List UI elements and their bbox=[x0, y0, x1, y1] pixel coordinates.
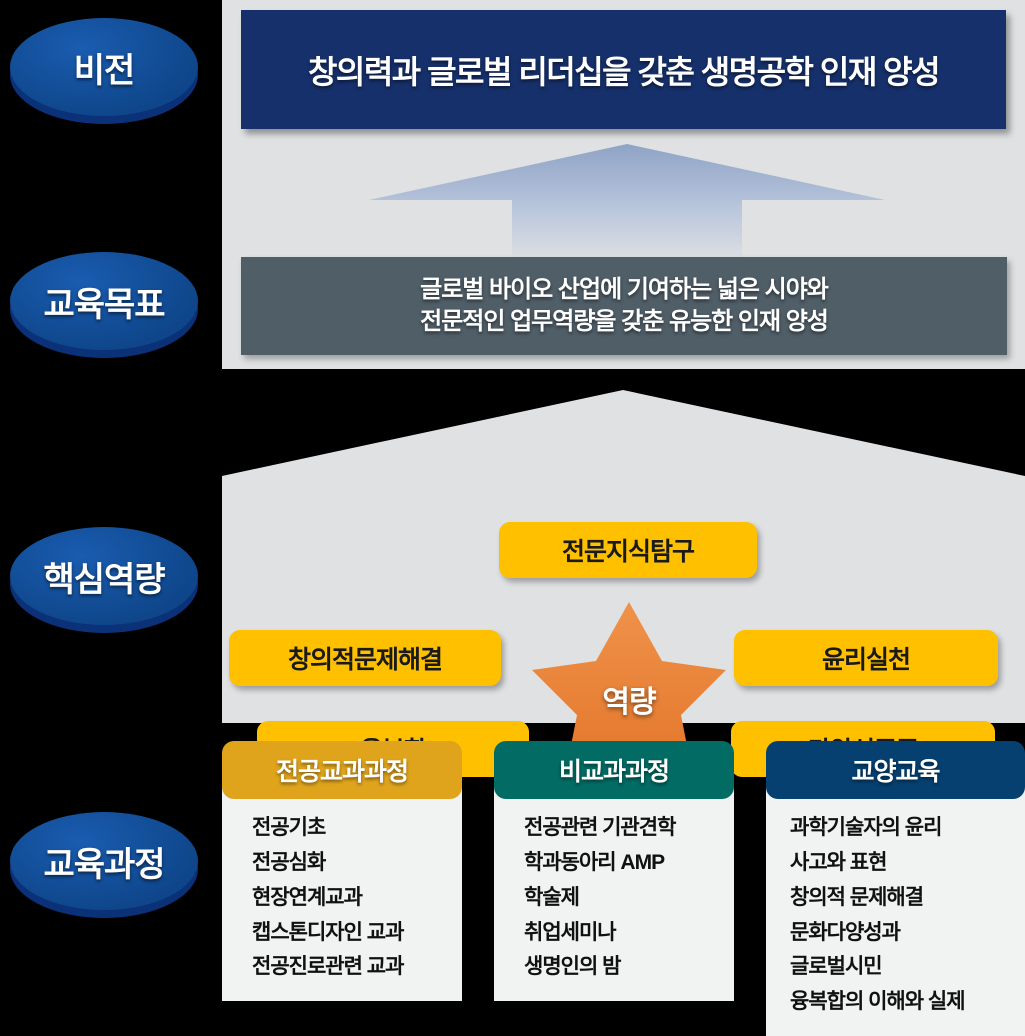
curriculum-item: 전공심화 bbox=[252, 846, 462, 881]
core-competency-panel: 역량 전문지식탐구 창의적문제해결 윤리실천 융복합 다양성존중 bbox=[222, 478, 1025, 723]
curriculum-body-liberal-arts: 과학기술자의 윤리사고와 표현창의적 문제해결문화다양성과글로벌시민융복합의 이… bbox=[766, 787, 1025, 1036]
curriculum-item: 과학기술자의 윤리 bbox=[790, 811, 1025, 846]
curriculum-header-major[interactable]: 전공교과과정 bbox=[222, 741, 462, 799]
education-goal-line1: 글로벌 바이오 산업에 기여하는 넓은 시야와 bbox=[420, 274, 828, 306]
curriculum-column-extracurricular: 비교과과정 전공관련 기관견학학과동아리 AMP학술제취업세미나생명인의 밤 bbox=[494, 741, 734, 1001]
vision-goal-panel: 창의력과 글로벌 리더십을 갖춘 생명공학 인재 양성 글로벌 바이오 산업에 … bbox=[222, 0, 1025, 369]
curriculum-item: 취업세미나 bbox=[524, 916, 734, 951]
curriculum-list-major: 전공기초전공심화현장연계교과캡스톤디자인 교과전공진로관련 교과 bbox=[222, 811, 462, 985]
curriculum-item: 사고와 표현 bbox=[790, 846, 1025, 881]
badge-curriculum: 교육과정 bbox=[6, 808, 202, 918]
curriculum-item: 생명인의 밤 bbox=[524, 950, 734, 985]
curriculum-body-major: 전공기초전공심화현장연계교과캡스톤디자인 교과전공진로관련 교과 bbox=[222, 787, 462, 1001]
badge-goal-label: 교육목표 bbox=[10, 252, 198, 350]
badge-core-competency: 핵심역량 bbox=[6, 523, 202, 633]
education-goal-box: 글로벌 바이오 산업에 기여하는 넓은 시야와 전문적인 업무역량을 갖춘 유능… bbox=[241, 257, 1007, 355]
curriculum-item: 학술제 bbox=[524, 881, 734, 916]
badge-vision: 비전 bbox=[6, 14, 202, 124]
curriculum-item: 글로벌시민 bbox=[790, 950, 1025, 985]
curriculum-list-extracurricular: 전공관련 기관견학학과동아리 AMP학술제취업세미나생명인의 밤 bbox=[494, 811, 734, 985]
curriculum-item: 전공진로관련 교과 bbox=[252, 950, 462, 985]
curriculum-item: 전공기초 bbox=[252, 811, 462, 846]
education-goal-line2: 전문적인 업무역량을 갖춘 유능한 인재 양성 bbox=[420, 306, 828, 338]
curriculum-item: 융복합의 이해와 실제 bbox=[790, 985, 1025, 1020]
curriculum-column-major: 전공교과과정 전공기초전공심화현장연계교과캡스톤디자인 교과전공진로관련 교과 bbox=[222, 741, 462, 1001]
curriculum-item: 문화다양성과 bbox=[790, 916, 1025, 951]
badge-goal: 교육목표 bbox=[6, 248, 202, 358]
curriculum-item: 캡스톤디자인 교과 bbox=[252, 916, 462, 951]
roof-shape bbox=[222, 390, 1025, 480]
vision-statement-text: 창의력과 글로벌 리더십을 갖춘 생명공학 인재 양성 bbox=[308, 47, 939, 93]
competency-chip-ethics[interactable]: 윤리실천 bbox=[734, 630, 998, 686]
badge-curriculum-label: 교육과정 bbox=[10, 812, 198, 910]
competency-chip-knowledge[interactable]: 전문지식탐구 bbox=[499, 522, 757, 578]
diagram-canvas: 비전 교육목표 핵심역량 교육과정 창의력과 글로벌 리더십을 갖춘 생명공학 … bbox=[0, 0, 1025, 1030]
vision-statement-box: 창의력과 글로벌 리더십을 갖춘 생명공학 인재 양성 bbox=[241, 10, 1006, 129]
curriculum-item: 현장연계교과 bbox=[252, 881, 462, 916]
curriculum-header-liberal-arts[interactable]: 교양교육 bbox=[766, 741, 1025, 799]
curriculum-list-liberal-arts: 과학기술자의 윤리사고와 표현창의적 문제해결문화다양성과글로벌시민융복합의 이… bbox=[766, 811, 1025, 1020]
curriculum-item: 학과동아리 AMP bbox=[524, 846, 734, 881]
curriculum-column-liberal-arts: 교양교육 과학기술자의 윤리사고와 표현창의적 문제해결문화다양성과글로벌시민융… bbox=[766, 741, 1025, 1036]
curriculum-item: 전공관련 기관견학 bbox=[524, 811, 734, 846]
curriculum-item: 창의적 문제해결 bbox=[790, 881, 1025, 916]
badge-core-label: 핵심역량 bbox=[10, 527, 198, 625]
competency-chip-creative-problem-solving[interactable]: 창의적문제해결 bbox=[229, 630, 501, 686]
upward-arrow-icon bbox=[367, 142, 887, 262]
curriculum-header-extracurricular[interactable]: 비교과과정 bbox=[494, 741, 734, 799]
badge-vision-label: 비전 bbox=[10, 18, 198, 116]
curriculum-body-extracurricular: 전공관련 기관견학학과동아리 AMP학술제취업세미나생명인의 밤 bbox=[494, 787, 734, 1001]
